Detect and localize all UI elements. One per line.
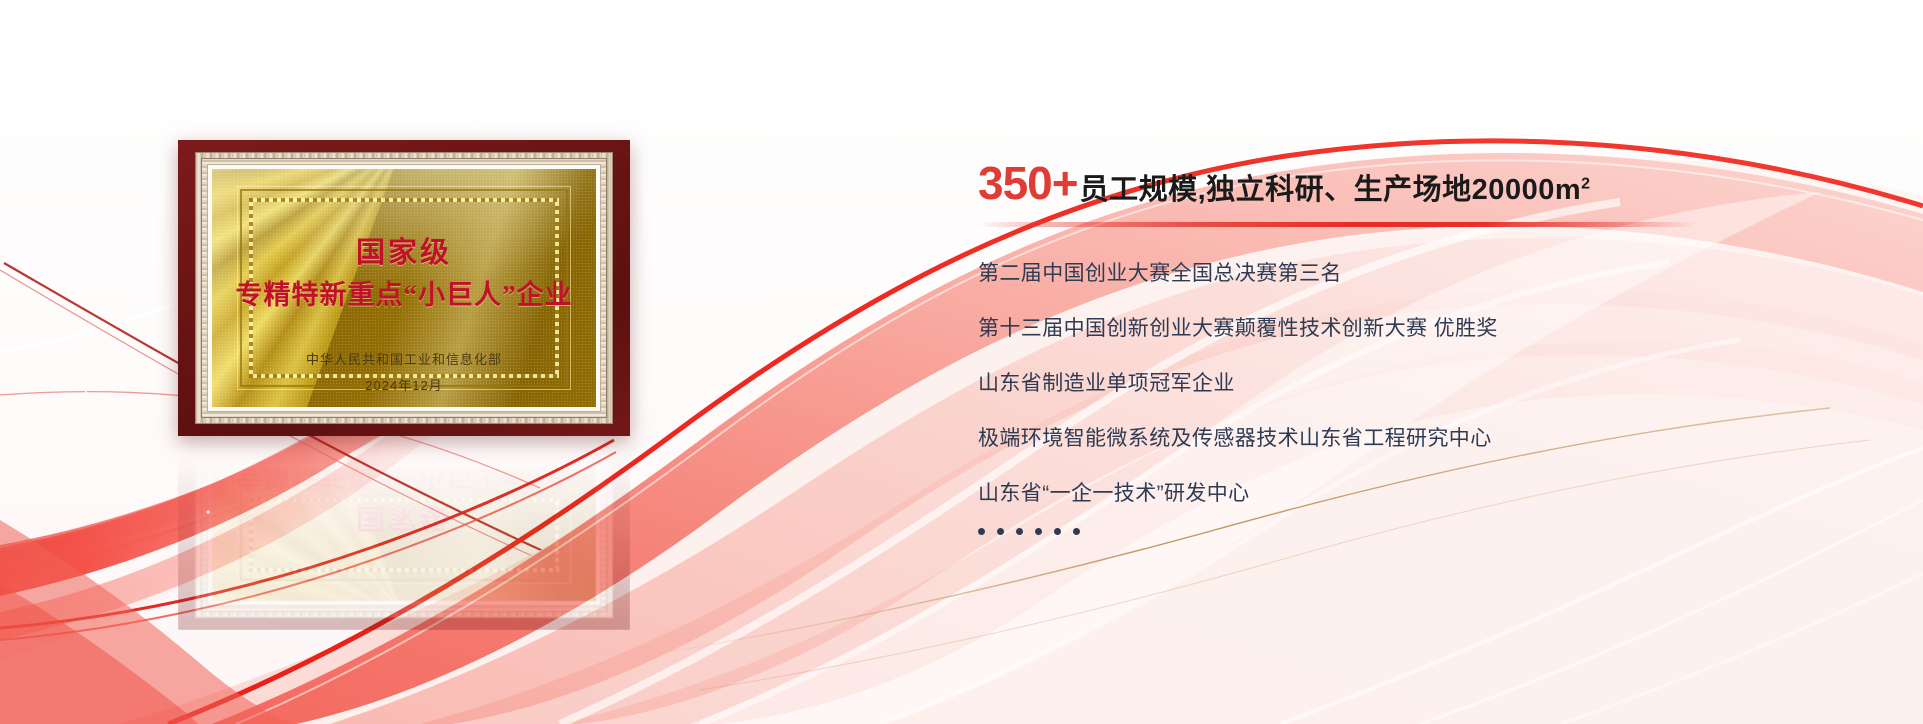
plaque-frame: 国家级 专精特新重点“小巨人”企业 中华人民共和国工业和信息化部 2024年12…	[178, 140, 630, 436]
headline-text-main: 员工规模,独立科研、生产场地20000m	[1080, 174, 1582, 206]
headline: 350+ 员工规模,独立科研、生产场地20000m2	[978, 160, 1878, 206]
plaque-ornate-band-outer: 国家级 专精特新重点“小巨人”企业 中华人民共和国工业和信息化部 2024年12…	[195, 152, 613, 424]
award-item: 第十三届中国创新创业大赛颠覆性技术创新大赛 优胜奖	[978, 318, 1878, 339]
plaque-white-liner: 国家级 专精特新重点“小巨人”企业 中华人民共和国工业和信息化部 2024年12…	[207, 164, 601, 412]
ellipsis-dot	[1073, 528, 1080, 535]
headline-underline-rule	[978, 222, 1698, 227]
award-item: 第二届中国创业大赛全国总决赛第三名	[978, 263, 1878, 284]
award-item: 山东省“一企一技术”研发中心	[978, 483, 1878, 504]
award-list: 第二届中国创业大赛全国总决赛第三名 第十三届中国创新创业大赛颠覆性技术创新大赛 …	[978, 263, 1878, 535]
headline-superscript: 2	[1581, 175, 1590, 192]
plaque-title-line1: 国家级	[212, 229, 596, 271]
headline-number: 350+	[978, 160, 1078, 206]
ellipsis-dot	[997, 528, 1004, 535]
plaque-title-line2: 专精特新重点“小巨人”企业	[212, 273, 596, 312]
award-plaque[interactable]: 国家级 专精特新重点“小巨人”企业 中华人民共和国工业和信息化部 2024年12…	[178, 140, 630, 436]
plaque-issuer: 中华人民共和国工业和信息化部	[212, 349, 596, 368]
ellipsis-dot	[1035, 528, 1042, 535]
award-ellipsis-dots	[978, 528, 1878, 535]
plaque-date: 2024年12月	[212, 375, 596, 394]
plaque-gold-plate: 国家级 专精特新重点“小巨人”企业 中华人民共和国工业和信息化部 2024年12…	[212, 169, 596, 407]
headline-text: 员工规模,独立科研、生产场地20000m2	[1080, 176, 1591, 205]
content-column: 350+ 员工规模,独立科研、生产场地20000m2 第二届中国创业大赛全国总决…	[978, 160, 1878, 535]
plaque-ornate-band-inner: 国家级 专精特新重点“小巨人”企业 中华人民共和国工业和信息化部 2024年12…	[201, 158, 607, 418]
ellipsis-dot	[1054, 528, 1061, 535]
award-item: 山东省制造业单项冠军企业	[978, 373, 1878, 394]
ellipsis-dot	[978, 528, 985, 535]
plaque-text-block: 国家级 专精特新重点“小巨人”企业 中华人民共和国工业和信息化部 2024年12…	[212, 169, 596, 407]
award-item: 极端环境智能微系统及传感器技术山东省工程研究中心	[978, 428, 1878, 449]
ellipsis-dot	[1016, 528, 1023, 535]
banner-stage: 国家级 专精特新重点“小巨人”企业 中华人民共和国工业和信息化部 2024年12…	[0, 0, 1923, 724]
